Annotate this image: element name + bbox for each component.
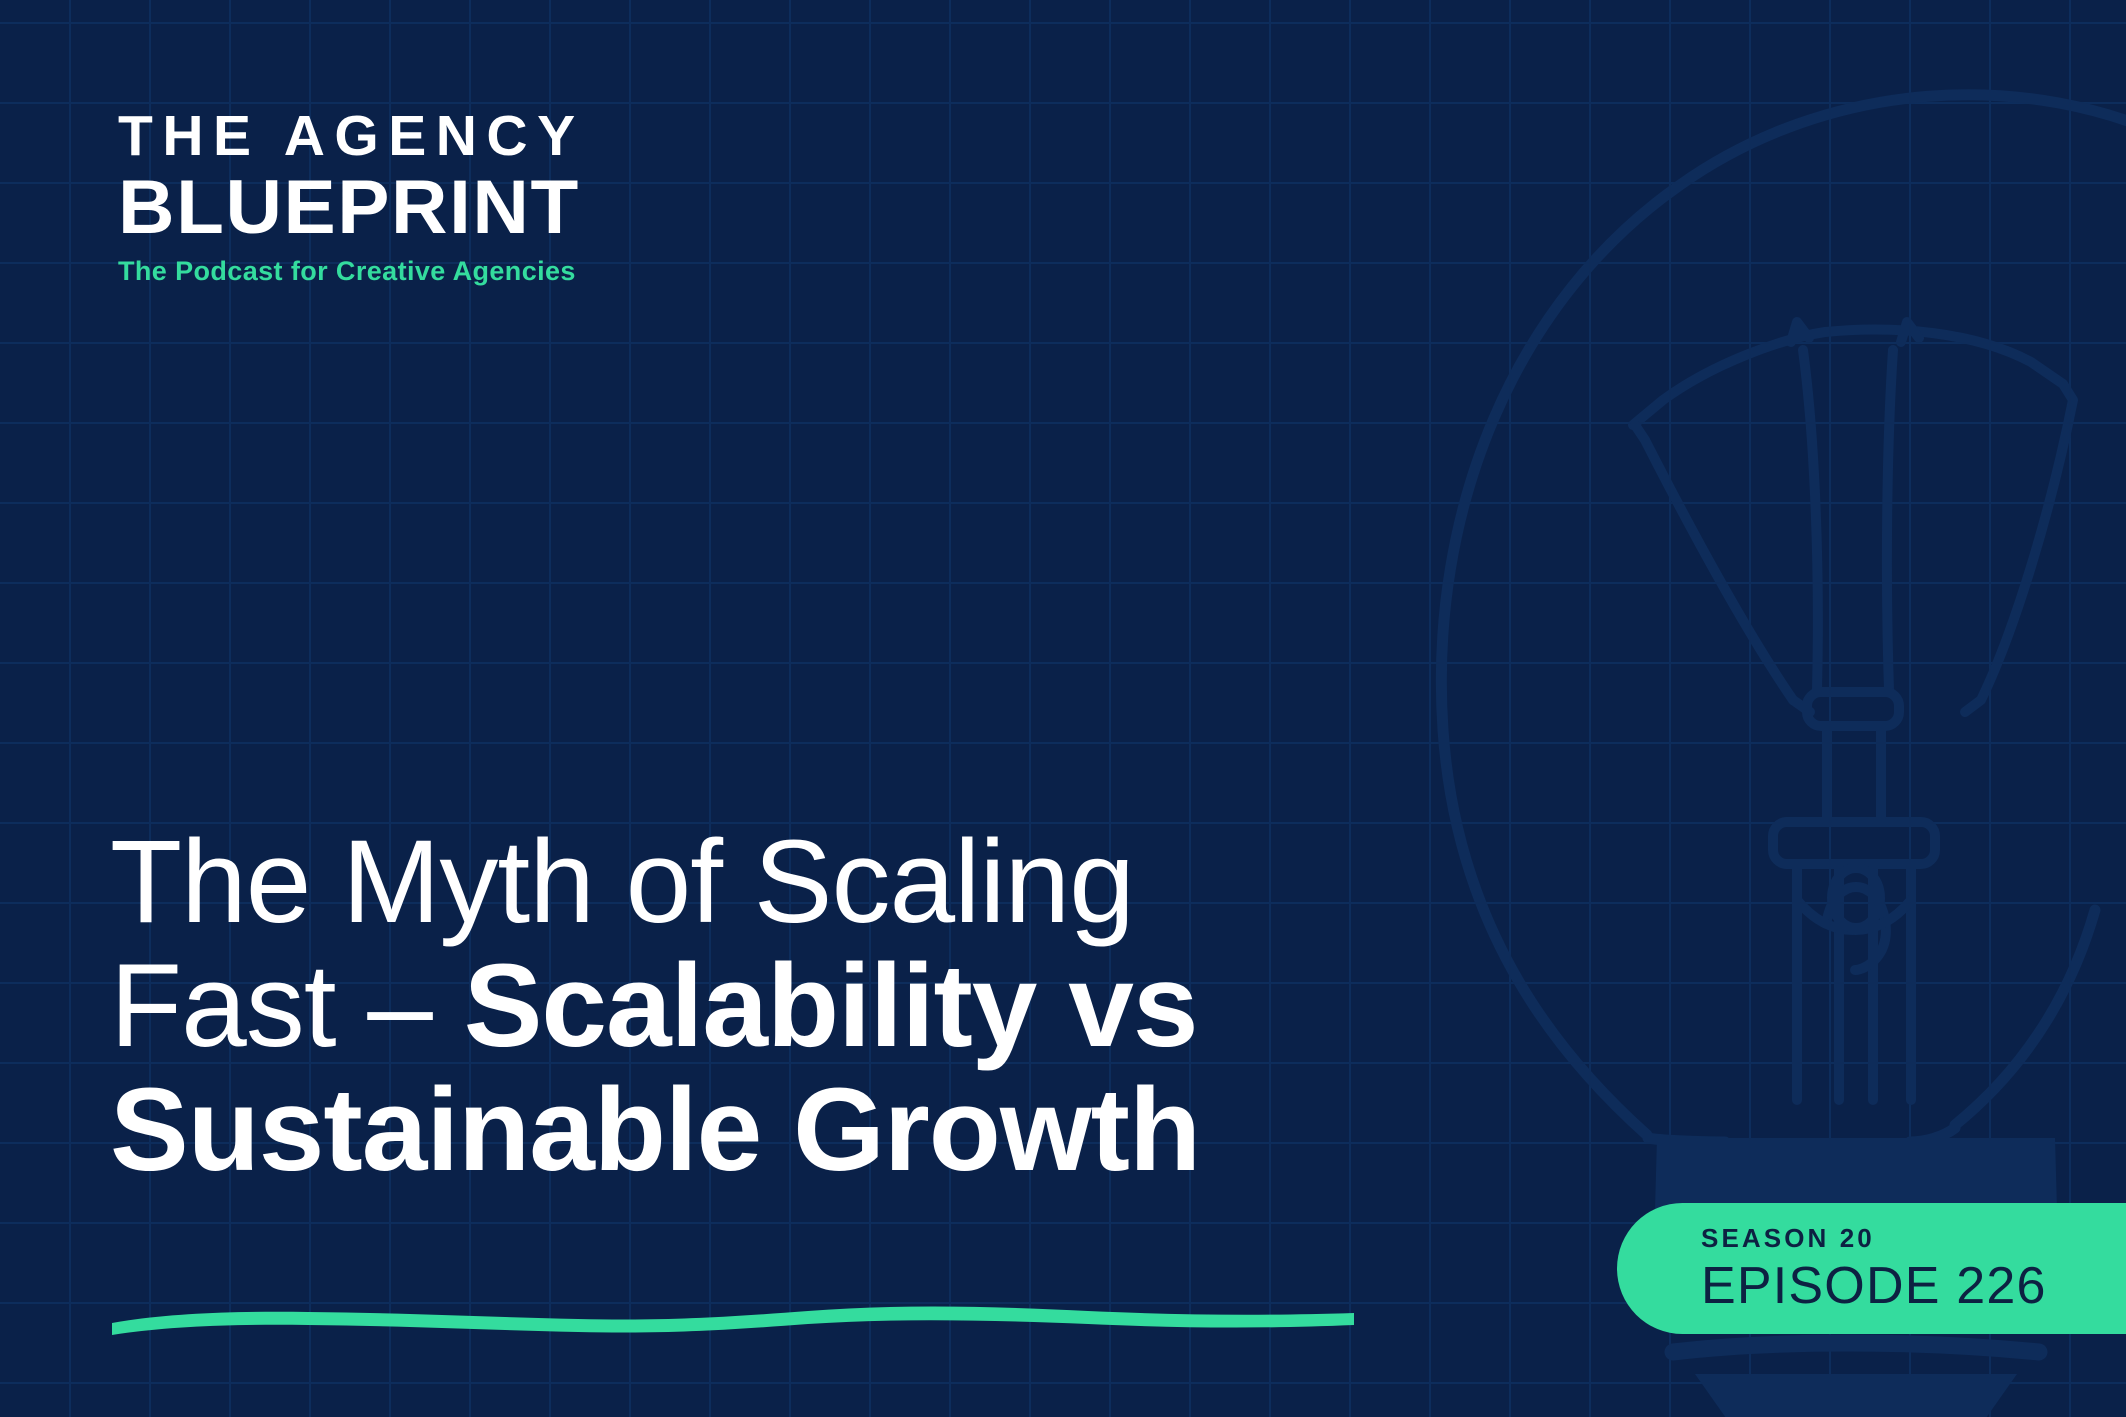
title-underline-brushstroke	[108, 1295, 1358, 1339]
episode-title-line-2-bold: Scalability vs	[464, 940, 1198, 1072]
episode-title-line-1: The Myth of Scaling	[110, 820, 1530, 944]
podcast-logo: THE AGENCY BLUEPRINT The Podcast for Cre…	[118, 108, 818, 285]
episode-title-line-2-light: Fast –	[110, 940, 464, 1072]
episode-title-line-2: Fast – Scalability vs	[110, 944, 1530, 1068]
episode-badge: SEASON 20 EPISODE 226	[1617, 1203, 2126, 1334]
logo-line-blueprint: BLUEPRINT	[118, 169, 839, 247]
logo-tagline: The Podcast for Creative Agencies	[118, 258, 818, 285]
badge-episode-label: EPISODE 226	[1701, 1260, 2126, 1312]
logo-line-the-agency: THE AGENCY	[118, 108, 818, 165]
episode-title-line-3: Sustainable Growth	[110, 1068, 1530, 1192]
episode-title: The Myth of Scaling Fast – Scalability v…	[110, 820, 1530, 1192]
episode-title-line-1-text: The Myth of Scaling	[110, 816, 1134, 948]
badge-season-label: SEASON 20	[1701, 1225, 2126, 1251]
episode-title-line-3-bold: Sustainable Growth	[110, 1064, 1200, 1196]
podcast-cover-canvas: THE AGENCY BLUEPRINT The Podcast for Cre…	[0, 0, 2126, 1417]
